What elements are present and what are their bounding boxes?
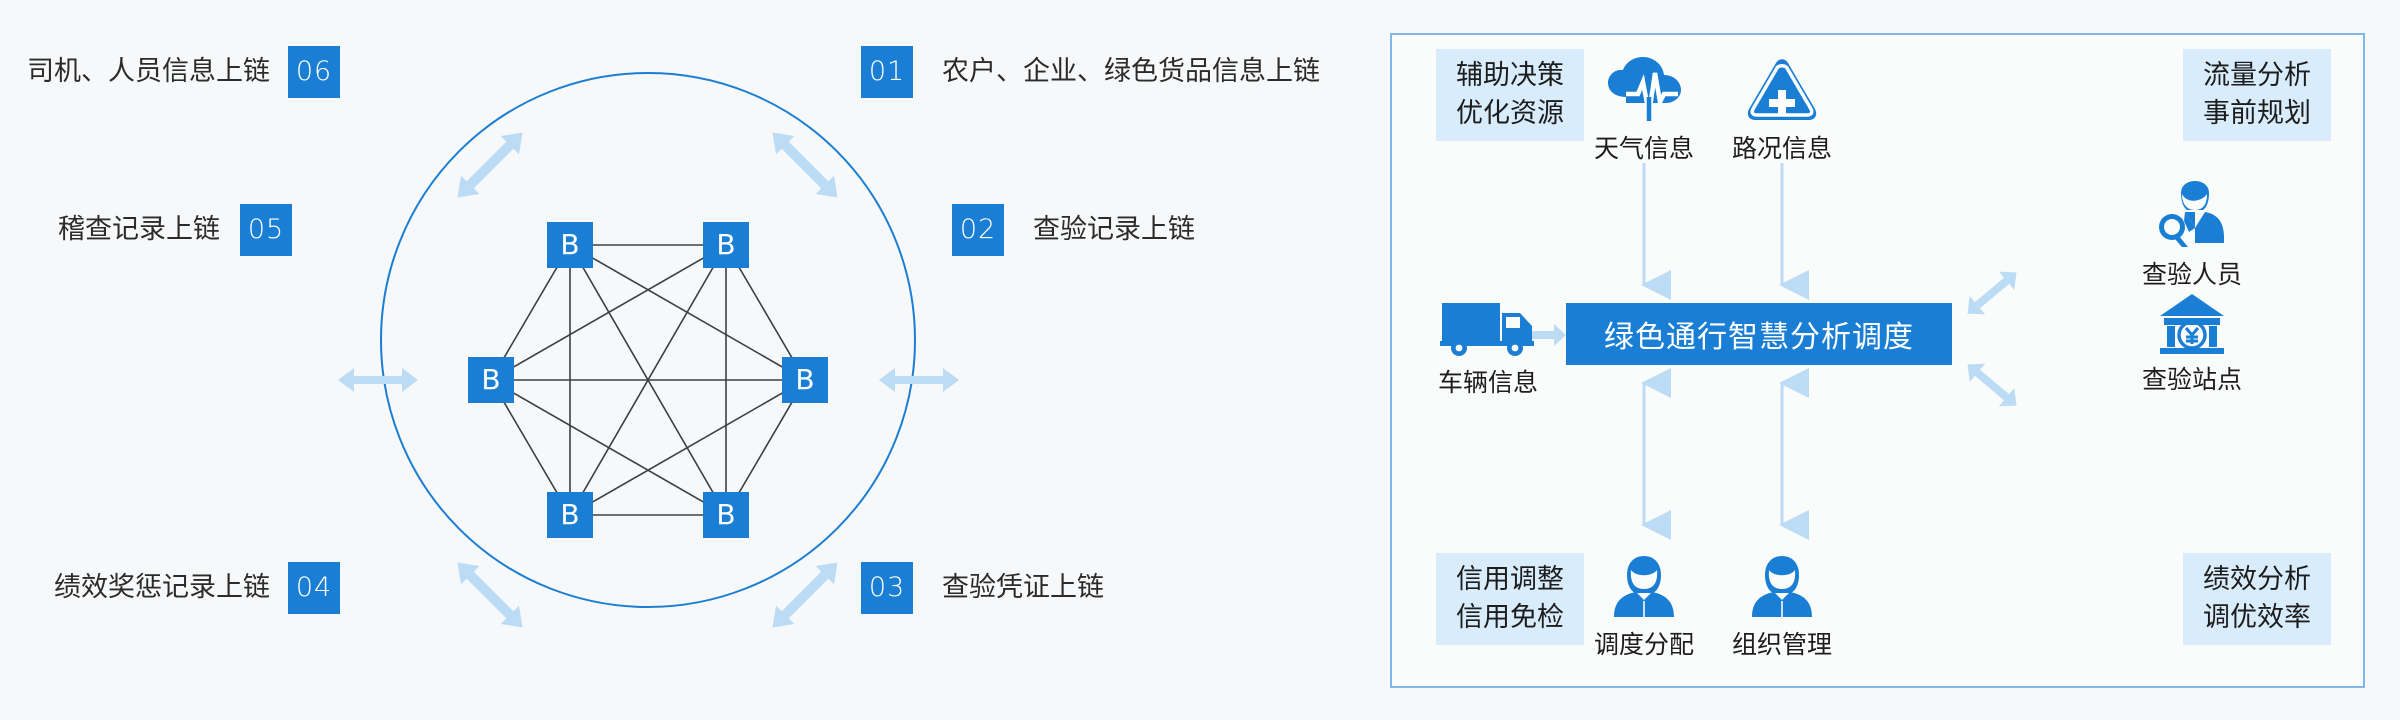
box-flow-analysis[interactable]: 流量分析 事前规划 — [2183, 49, 2331, 141]
box-line-2: 优化资源 — [1456, 95, 1564, 133]
chain-badge-04[interactable]: 04 — [288, 562, 340, 614]
item-road[interactable]: 路况信息 — [1692, 49, 1872, 165]
item-label: 组织管理 — [1692, 625, 1872, 661]
box-line-1: 流量分析 — [2203, 57, 2311, 95]
item-organization[interactable]: 组织管理 — [1692, 545, 1872, 661]
item-station[interactable]: 查验站点 — [2102, 280, 2282, 396]
person-bust-icon — [1692, 545, 1872, 619]
chain-label-01: 农户、企业、绿色货品信息上链 — [942, 46, 1320, 98]
main-dispatch-bar[interactable]: 绿色通行智慧分析调度 — [1566, 303, 1952, 365]
chain-node: B — [703, 222, 749, 268]
item-label: 车辆信息 — [1398, 363, 1578, 399]
chain-badge-02[interactable]: 02 — [952, 204, 1004, 256]
item-label: 路况信息 — [1692, 129, 1872, 165]
chain-label-05: 稽查记录上链 — [0, 204, 220, 256]
box-line-1: 辅助决策 — [1456, 57, 1564, 95]
item-inspector[interactable]: 查验人员 — [2102, 175, 2282, 291]
chain-badge-06[interactable]: 06 — [288, 46, 340, 98]
chain-label-06: 司机、人员信息上链 — [0, 46, 270, 98]
chain-node: B — [782, 357, 828, 403]
blockchain-panel: B B B B B B 司机、人员信息上链 06 01 农户、企业、绿色货品信息… — [0, 0, 1380, 720]
warning-triangle-plus-icon — [1692, 49, 1872, 123]
dispatch-panel: 辅助决策 优化资源 流量分析 事前规划 信用调整 信用免检 绩效分析 调优效率 … — [1390, 33, 2365, 688]
chain-node: B — [547, 222, 593, 268]
infographic-root: B B B B B B 司机、人员信息上链 06 01 农户、企业、绿色货品信息… — [0, 0, 2400, 720]
chain-node: B — [703, 492, 749, 538]
chain-node: B — [468, 357, 514, 403]
box-line-2: 信用免检 — [1456, 599, 1564, 637]
chain-badge-01[interactable]: 01 — [861, 46, 913, 98]
bank-building-icon — [2102, 280, 2282, 354]
box-line-1: 绩效分析 — [2203, 561, 2311, 599]
truck-icon — [1398, 283, 1578, 357]
box-line-2: 调优效率 — [2203, 599, 2311, 637]
box-performance-analysis[interactable]: 绩效分析 调优效率 — [2183, 553, 2331, 645]
chain-label-03: 查验凭证上链 — [942, 562, 1104, 614]
item-label: 查验站点 — [2102, 360, 2282, 396]
chain-node: B — [547, 492, 593, 538]
item-vehicle[interactable]: 车辆信息 — [1398, 283, 1578, 399]
box-line-2: 事前规划 — [2203, 95, 2311, 133]
chain-badge-05[interactable]: 05 — [240, 204, 292, 256]
box-line-1: 信用调整 — [1456, 561, 1564, 599]
person-magnifier-icon — [2102, 175, 2282, 249]
chain-label-02: 查验记录上链 — [1033, 204, 1195, 256]
chain-badge-03[interactable]: 03 — [861, 562, 913, 614]
chain-label-04: 绩效奖惩记录上链 — [0, 562, 270, 614]
